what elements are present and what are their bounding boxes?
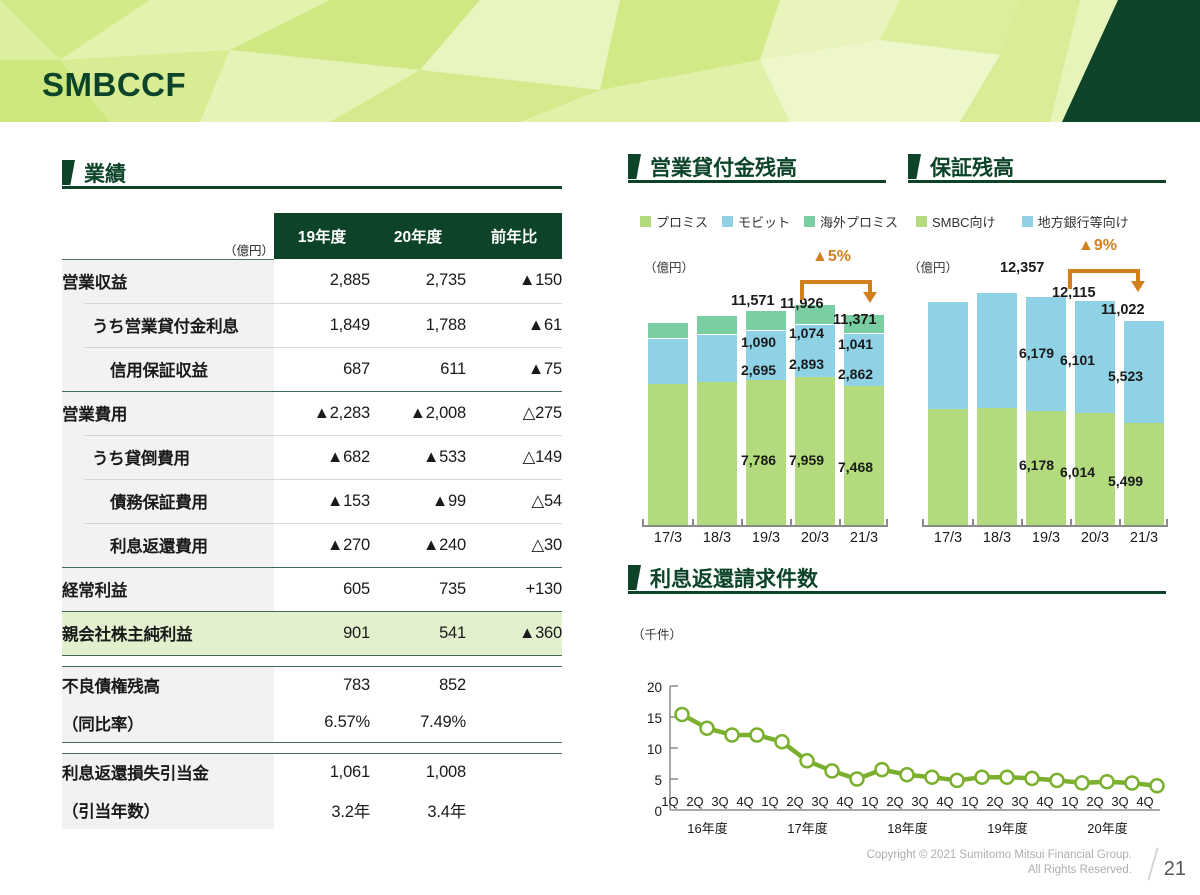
row-label: 経常利益 <box>62 567 274 611</box>
section-rule <box>62 186 562 189</box>
table-row: 不良債権残高 783 852 <box>62 666 562 704</box>
legend-item-promise: プロミス <box>640 212 708 231</box>
table-row: 営業費用 ▲2,283 ▲2,008 △275 <box>62 391 562 435</box>
table-row: （引当年数） 3.2年 3.4年 <box>62 791 562 829</box>
table-row: 信用保証収益 687 611 ▲75 <box>62 347 562 391</box>
bar-total-label: 11,022 <box>1101 302 1145 318</box>
x-label: 17/3 <box>642 530 694 546</box>
row-value: 7.49% <box>370 704 466 742</box>
footer-copyright: Copyright © 2021 Sumitomo Mitsui Financi… <box>867 848 1132 879</box>
axis-tick <box>741 519 743 526</box>
bar-seg-overseas <box>746 310 786 330</box>
bar-total-label: 11,571 <box>731 293 775 309</box>
row-value: 1,849 <box>274 303 370 347</box>
column-header-fy20: 20年度 <box>370 213 466 259</box>
column-header-fy19: 19年度 <box>274 213 370 259</box>
row-value: ▲240 <box>370 523 466 567</box>
financial-results-table: （億円） 19年度 20年度 前年比 営業収益 2,885 2,735 ▲150… <box>62 213 562 829</box>
table-row: （同比率） 6.57% 7.49% <box>62 704 562 742</box>
table-row: うち営業貸付金利息 1,849 1,788 ▲61 <box>62 303 562 347</box>
y-tick-label: 5 <box>628 773 662 788</box>
row-value: ▲2,283 <box>274 391 370 435</box>
row-value: 611 <box>370 347 466 391</box>
annotation-pct-guarantee: ▲9% <box>1078 237 1117 255</box>
table-row: 利息返還損失引当金 1,061 1,008 <box>62 753 562 791</box>
row-value: ▲75 <box>466 347 562 391</box>
row-value <box>466 704 562 742</box>
section-accent-bar <box>628 154 636 179</box>
section-title-results: 業績 <box>84 158 126 188</box>
bar-value-label: 1,074 <box>789 325 824 341</box>
bar-col-20-3 <box>1075 300 1115 525</box>
bar-value-label: 7,959 <box>789 452 824 468</box>
row-value <box>466 791 562 829</box>
x-label: 21/3 <box>1118 530 1170 546</box>
row-value: 783 <box>274 666 370 704</box>
bar-value-label: 7,468 <box>838 459 873 475</box>
y-tick-label: 20 <box>628 680 662 695</box>
bar-seg-promise <box>697 382 737 525</box>
table-row: うち貸倒費用 ▲682 ▲533 △149 <box>62 435 562 479</box>
x-year-label: 19年度 <box>955 818 1060 837</box>
row-value: ▲270 <box>274 523 370 567</box>
x-label: 18/3 <box>691 530 743 546</box>
bracket-arrowhead-icon <box>1131 281 1145 292</box>
row-value: 1,008 <box>370 753 466 791</box>
section-rule <box>628 591 1166 594</box>
legend-label: 地方銀行等向け <box>1038 212 1129 231</box>
table-row-highlight: 親会社株主純利益 901 541 ▲360 <box>62 611 562 655</box>
bar-col-19-3 <box>1026 296 1066 525</box>
row-value: ▲533 <box>370 435 466 479</box>
legend-item-smbc: SMBC向け <box>916 212 996 231</box>
x-label: 21/3 <box>838 530 890 546</box>
bar-value-label: 6,178 <box>1019 457 1054 473</box>
x-label: 19/3 <box>1020 530 1072 546</box>
bar-total-label: 12,357 <box>1000 260 1044 276</box>
section-title-refund-claims: 利息返還請求件数 <box>650 563 818 593</box>
legend-label: SMBC向け <box>932 212 996 231</box>
axis-tick <box>839 519 841 526</box>
row-label: 利息返還費用 <box>62 523 274 567</box>
legend-label: モビット <box>738 212 790 231</box>
bar-value-label: 2,695 <box>741 362 776 378</box>
table-header-row: （億円） 19年度 20年度 前年比 <box>62 213 562 259</box>
row-value: 3.2年 <box>274 791 370 829</box>
bar-value-label: 2,893 <box>789 356 824 372</box>
legend-item-overseas: 海外プロミス <box>804 212 898 231</box>
x-axis-line <box>922 525 1168 527</box>
row-value: 901 <box>274 611 370 655</box>
row-value: △30 <box>466 523 562 567</box>
legend-label: 海外プロミス <box>820 212 898 231</box>
bar-seg-smbc <box>928 409 968 525</box>
legend-swatch-icon <box>1022 216 1033 227</box>
legend-item-mobit: モビット <box>722 212 790 231</box>
bar-col-17-3 <box>648 322 688 525</box>
row-value: 605 <box>274 567 370 611</box>
row-value: ▲153 <box>274 479 370 523</box>
section-title-guarantee: 保証残高 <box>930 152 1014 182</box>
x-axis-line <box>642 525 888 527</box>
row-label: うち営業貸付金利息 <box>62 303 274 347</box>
axis-tick <box>1021 519 1023 526</box>
x-label: 20/3 <box>789 530 841 546</box>
section-rule <box>908 180 1166 183</box>
legend-swatch-icon <box>916 216 927 227</box>
row-label: （同比率） <box>62 704 274 742</box>
bar-seg-overseas <box>648 322 688 338</box>
row-label: うち貸倒費用 <box>62 435 274 479</box>
x-year-label: 17年度 <box>755 818 860 837</box>
chart-unit-loans: （億円） <box>644 257 694 276</box>
bar-seg-smbc <box>977 408 1017 525</box>
axis-tick <box>922 519 924 526</box>
axis-tick <box>886 519 888 526</box>
bar-seg-mobit <box>648 338 688 384</box>
section-title-loans: 営業貸付金残高 <box>650 152 797 182</box>
table-row: 利息返還費用 ▲270 ▲240 △30 <box>62 523 562 567</box>
row-value <box>466 666 562 704</box>
header-polygon-pattern <box>0 0 1200 122</box>
x-quarter-label: 4Q <box>1130 794 1160 809</box>
bar-seg-promise <box>648 384 688 525</box>
axis-tick <box>1119 519 1121 526</box>
legend-swatch-icon <box>804 216 815 227</box>
section-rule <box>628 180 886 183</box>
bar-col-21-3 <box>1124 320 1164 525</box>
table-spacer <box>62 655 562 666</box>
chart-unit-guarantee: （億円） <box>908 257 958 276</box>
row-value: ▲61 <box>466 303 562 347</box>
bar-seg-regional <box>928 301 968 409</box>
row-value: 735 <box>370 567 466 611</box>
section-accent-bar <box>908 154 916 179</box>
axis-tick <box>692 519 694 526</box>
bracket-top <box>1068 269 1140 273</box>
axis-tick <box>642 519 644 526</box>
bar-value-label: 5,523 <box>1108 368 1143 384</box>
bar-col-18-3 <box>977 292 1017 525</box>
bracket-arrowhead-icon <box>863 292 877 303</box>
x-year-label: 20年度 <box>1055 818 1160 837</box>
annotation-bracket-guarantee <box>1068 261 1144 289</box>
section-heading-guarantee: 保証残高 <box>908 152 1166 183</box>
row-label: 債務保証費用 <box>62 479 274 523</box>
bar-seg-overseas <box>697 315 737 334</box>
row-label: 信用保証収益 <box>62 347 274 391</box>
row-value <box>466 753 562 791</box>
row-value: ▲2,008 <box>370 391 466 435</box>
legend-swatch-icon <box>640 216 651 227</box>
x-year-label: 16年度 <box>655 818 760 837</box>
table-row: 経常利益 605 735 +130 <box>62 567 562 611</box>
row-value: 1,788 <box>370 303 466 347</box>
section-heading-results: 業績 <box>62 158 562 189</box>
bracket-top <box>800 280 872 284</box>
axis-tick <box>1166 519 1168 526</box>
bar-col-17-3 <box>928 301 968 525</box>
table-spacer <box>62 742 562 753</box>
bar-total-label: 11,371 <box>833 312 877 328</box>
bar-value-label: 2,862 <box>838 366 873 382</box>
bar-seg-promise <box>844 386 884 525</box>
table-row: 営業収益 2,885 2,735 ▲150 <box>62 259 562 303</box>
y-tick-label: 10 <box>628 742 662 757</box>
row-value: 541 <box>370 611 466 655</box>
row-value: 687 <box>274 347 370 391</box>
section-heading-refund-claims: 利息返還請求件数 <box>628 563 1166 594</box>
bar-value-label: 6,101 <box>1060 352 1095 368</box>
bar-value-label: 6,179 <box>1019 345 1054 361</box>
row-value: ▲99 <box>370 479 466 523</box>
x-label: 19/3 <box>740 530 792 546</box>
row-value: ▲360 <box>466 611 562 655</box>
row-label: 親会社株主純利益 <box>62 611 274 655</box>
page-number: 21 <box>1164 858 1186 881</box>
axis-tick <box>790 519 792 526</box>
row-label: 営業収益 <box>62 259 274 303</box>
row-value: △275 <box>466 391 562 435</box>
page-title: SMBCCF <box>42 68 186 101</box>
line-chart-plot <box>668 684 1168 874</box>
row-label: 利息返還損失引当金 <box>62 753 274 791</box>
legend-guarantee: SMBC向け 地方銀行等向け <box>916 212 1143 231</box>
row-value: 2,735 <box>370 259 466 303</box>
x-year-label: 18年度 <box>855 818 960 837</box>
row-value: 2,885 <box>274 259 370 303</box>
x-label: 17/3 <box>922 530 974 546</box>
row-value: ▲150 <box>466 259 562 303</box>
bar-seg-regional <box>977 292 1017 408</box>
axis-tick <box>1070 519 1072 526</box>
legend-swatch-icon <box>722 216 733 227</box>
bar-seg-mobit <box>697 334 737 382</box>
legend-loans: プロミス モビット 海外プロミス <box>640 212 912 231</box>
row-value: ▲682 <box>274 435 370 479</box>
row-label: 営業費用 <box>62 391 274 435</box>
annotation-pct-loans: ▲5% <box>812 248 851 266</box>
bar-col-18-3 <box>697 315 737 525</box>
row-value: 3.4年 <box>370 791 466 829</box>
row-label: （引当年数） <box>62 791 274 829</box>
row-value: 852 <box>370 666 466 704</box>
line-chart-refund-claims: 20 15 10 5 0 <box>628 640 1168 790</box>
row-value: 1,061 <box>274 753 370 791</box>
bar-value-label: 5,499 <box>1108 473 1143 489</box>
legend-label: プロミス <box>656 212 708 231</box>
bar-value-label: 1,041 <box>838 336 873 352</box>
row-value: +130 <box>466 567 562 611</box>
section-accent-bar <box>628 565 636 590</box>
bar-value-label: 1,090 <box>741 334 776 350</box>
x-label: 18/3 <box>971 530 1023 546</box>
row-value: △54 <box>466 479 562 523</box>
copyright-line-2: All Rights Reserved. <box>867 863 1132 879</box>
section-heading-loans: 営業貸付金残高 <box>628 152 886 183</box>
copyright-line-1: Copyright © 2021 Sumitomo Mitsui Financi… <box>867 848 1132 864</box>
row-value: △149 <box>466 435 562 479</box>
y-tick-label: 15 <box>628 711 662 726</box>
slide-root: SMBCCF 業績 （億円） 19年度 20年度 前年比 営業収益 2,885 <box>0 0 1200 895</box>
legend-item-regional-banks: 地方銀行等向け <box>1022 212 1129 231</box>
bar-value-label: 6,014 <box>1060 464 1095 480</box>
table-unit-note: （億円） <box>62 213 274 259</box>
bar-seg-promise <box>795 377 835 525</box>
column-header-yoy: 前年比 <box>466 213 562 259</box>
table-row: 債務保証費用 ▲153 ▲99 △54 <box>62 479 562 523</box>
axis-tick <box>972 519 974 526</box>
row-value: 6.57% <box>274 704 370 742</box>
x-label: 20/3 <box>1069 530 1121 546</box>
slide-header: SMBCCF <box>0 0 1200 122</box>
bar-value-label: 7,786 <box>741 452 776 468</box>
section-accent-bar <box>62 160 70 185</box>
annotation-bracket-loans <box>800 272 876 300</box>
row-label: 不良債権残高 <box>62 666 274 704</box>
